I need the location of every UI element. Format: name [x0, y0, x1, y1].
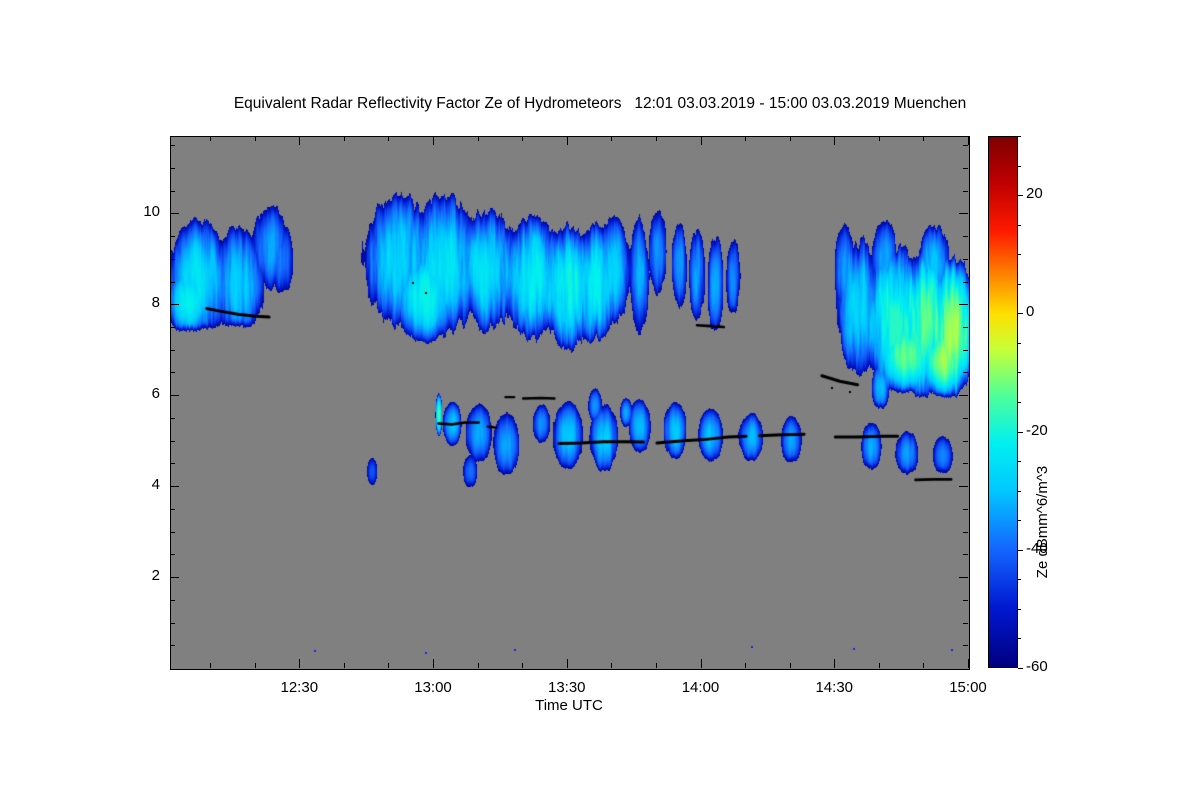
x-tick-label: 13:00: [391, 679, 475, 696]
x-major-tick: [433, 659, 434, 668]
y-minor-tick-right: [963, 327, 968, 328]
y-minor-tick: [170, 623, 175, 624]
y-minor-tick-right: [963, 554, 968, 555]
radar-reflectivity-heatmap: [171, 137, 969, 669]
colorbar-minor-tick: [1018, 520, 1021, 521]
colorbar: 200-20-40-60: [988, 136, 1018, 668]
y-major-tick: [170, 395, 179, 396]
y-major-tick-right: [959, 486, 968, 487]
colorbar-tick-label: 20: [1026, 185, 1043, 202]
y-minor-tick: [170, 463, 175, 464]
y-minor-tick: [170, 600, 175, 601]
x-minor-tick-top: [388, 136, 389, 141]
y-minor-tick-right: [963, 259, 968, 260]
x-major-tick: [299, 659, 300, 668]
x-minor-tick: [255, 663, 256, 668]
colorbar-minor-tick: [1018, 402, 1021, 403]
y-minor-tick: [170, 145, 175, 146]
x-minor-tick: [344, 663, 345, 668]
x-major-tick: [567, 659, 568, 668]
colorbar-major-tick: [1018, 550, 1023, 551]
x-minor-tick-top: [611, 136, 612, 141]
colorbar-major-tick: [1018, 195, 1023, 196]
x-minor-tick: [388, 663, 389, 668]
colorbar-minor-tick: [1018, 638, 1021, 639]
y-major-tick-right: [959, 395, 968, 396]
y-minor-tick-right: [963, 168, 968, 169]
x-axis-title: Time UTC: [170, 697, 968, 714]
colorbar-minor-tick: [1018, 372, 1021, 373]
x-minor-tick-top: [923, 136, 924, 141]
colorbar-minor-tick: [1018, 166, 1021, 167]
y-tick-label: 8: [112, 294, 160, 311]
x-minor-tick-top: [656, 136, 657, 141]
colorbar-major-tick: [1018, 432, 1023, 433]
y-minor-tick-right: [963, 441, 968, 442]
x-major-tick: [834, 659, 835, 668]
y-minor-tick: [170, 350, 175, 351]
y-major-tick: [170, 577, 179, 578]
x-minor-tick-top: [478, 136, 479, 141]
y-minor-tick-right: [963, 645, 968, 646]
x-minor-tick-top: [879, 136, 880, 141]
colorbar-minor-tick: [1018, 254, 1021, 255]
y-major-tick: [170, 304, 179, 305]
y-minor-tick: [170, 282, 175, 283]
y-minor-tick-right: [963, 418, 968, 419]
x-minor-tick: [790, 663, 791, 668]
y-minor-tick: [170, 236, 175, 237]
x-major-tick-top: [433, 136, 434, 145]
colorbar-minor-tick: [1018, 284, 1021, 285]
y-major-tick-right: [959, 304, 968, 305]
y-tick-label: 6: [112, 385, 160, 402]
x-minor-tick-top: [745, 136, 746, 141]
colorbar-tick-label: 0: [1026, 303, 1034, 320]
x-major-tick-top: [567, 136, 568, 145]
x-minor-tick-top: [210, 136, 211, 141]
y-minor-tick: [170, 168, 175, 169]
x-tick-label: 12:30: [257, 679, 341, 696]
y-minor-tick: [170, 418, 175, 419]
colorbar-major-tick: [1018, 668, 1023, 669]
y-minor-tick-right: [963, 372, 968, 373]
x-minor-tick: [611, 663, 612, 668]
y-minor-tick: [170, 327, 175, 328]
x-minor-tick-top: [344, 136, 345, 141]
colorbar-minor-tick: [1018, 461, 1021, 462]
x-major-tick: [701, 659, 702, 668]
x-major-tick-top: [834, 136, 835, 145]
colorbar-title: Ze dBmm^6/m^3: [1034, 402, 1051, 642]
plot-area: [170, 136, 970, 670]
x-minor-tick: [522, 663, 523, 668]
radar-figure: Equivalent Radar Reflectivity Factor Ze …: [0, 0, 1200, 800]
x-minor-tick: [879, 663, 880, 668]
x-major-tick-top: [968, 136, 969, 145]
y-minor-tick: [170, 645, 175, 646]
y-minor-tick-right: [963, 350, 968, 351]
y-tick-label: 4: [112, 476, 160, 493]
y-tick-label: 10: [112, 203, 160, 220]
x-tick-label: 14:00: [659, 679, 743, 696]
y-minor-tick-right: [963, 509, 968, 510]
y-minor-tick: [170, 554, 175, 555]
colorbar-minor-tick: [1018, 225, 1021, 226]
y-minor-tick: [170, 259, 175, 260]
x-minor-tick: [656, 663, 657, 668]
colorbar-minor-tick: [1018, 343, 1021, 344]
y-minor-tick-right: [963, 532, 968, 533]
colorbar-minor-tick: [1018, 579, 1021, 580]
colorbar-gradient: [988, 136, 1018, 668]
y-major-tick: [170, 213, 179, 214]
y-major-tick-right: [959, 577, 968, 578]
y-minor-tick: [170, 509, 175, 510]
x-tick-label: 15:00: [926, 679, 1010, 696]
colorbar-minor-tick: [1018, 609, 1021, 610]
x-minor-tick: [923, 663, 924, 668]
y-minor-tick: [170, 532, 175, 533]
x-minor-tick: [745, 663, 746, 668]
y-minor-tick: [170, 441, 175, 442]
colorbar-minor-tick: [1018, 491, 1021, 492]
y-minor-tick-right: [963, 236, 968, 237]
y-minor-tick-right: [963, 191, 968, 192]
x-major-tick-top: [701, 136, 702, 145]
y-major-tick-right: [959, 213, 968, 214]
y-tick-label: 2: [112, 567, 160, 584]
y-minor-tick-right: [963, 600, 968, 601]
x-major-tick-top: [299, 136, 300, 145]
y-minor-tick: [170, 191, 175, 192]
y-minor-tick-right: [963, 282, 968, 283]
x-minor-tick-top: [255, 136, 256, 141]
y-major-tick: [170, 486, 179, 487]
y-minor-tick-right: [963, 145, 968, 146]
x-minor-tick: [210, 663, 211, 668]
colorbar-tick-label: -60: [1026, 658, 1048, 675]
x-minor-tick-top: [790, 136, 791, 141]
y-minor-tick: [170, 372, 175, 373]
y-minor-tick-right: [963, 623, 968, 624]
colorbar-major-tick: [1018, 313, 1023, 314]
x-minor-tick: [478, 663, 479, 668]
x-tick-label: 13:30: [525, 679, 609, 696]
page-title: Equivalent Radar Reflectivity Factor Ze …: [0, 95, 1200, 113]
x-minor-tick-top: [522, 136, 523, 141]
x-major-tick: [968, 659, 969, 668]
x-tick-label: 14:30: [792, 679, 876, 696]
colorbar-minor-tick: [1018, 136, 1021, 137]
y-minor-tick-right: [963, 463, 968, 464]
